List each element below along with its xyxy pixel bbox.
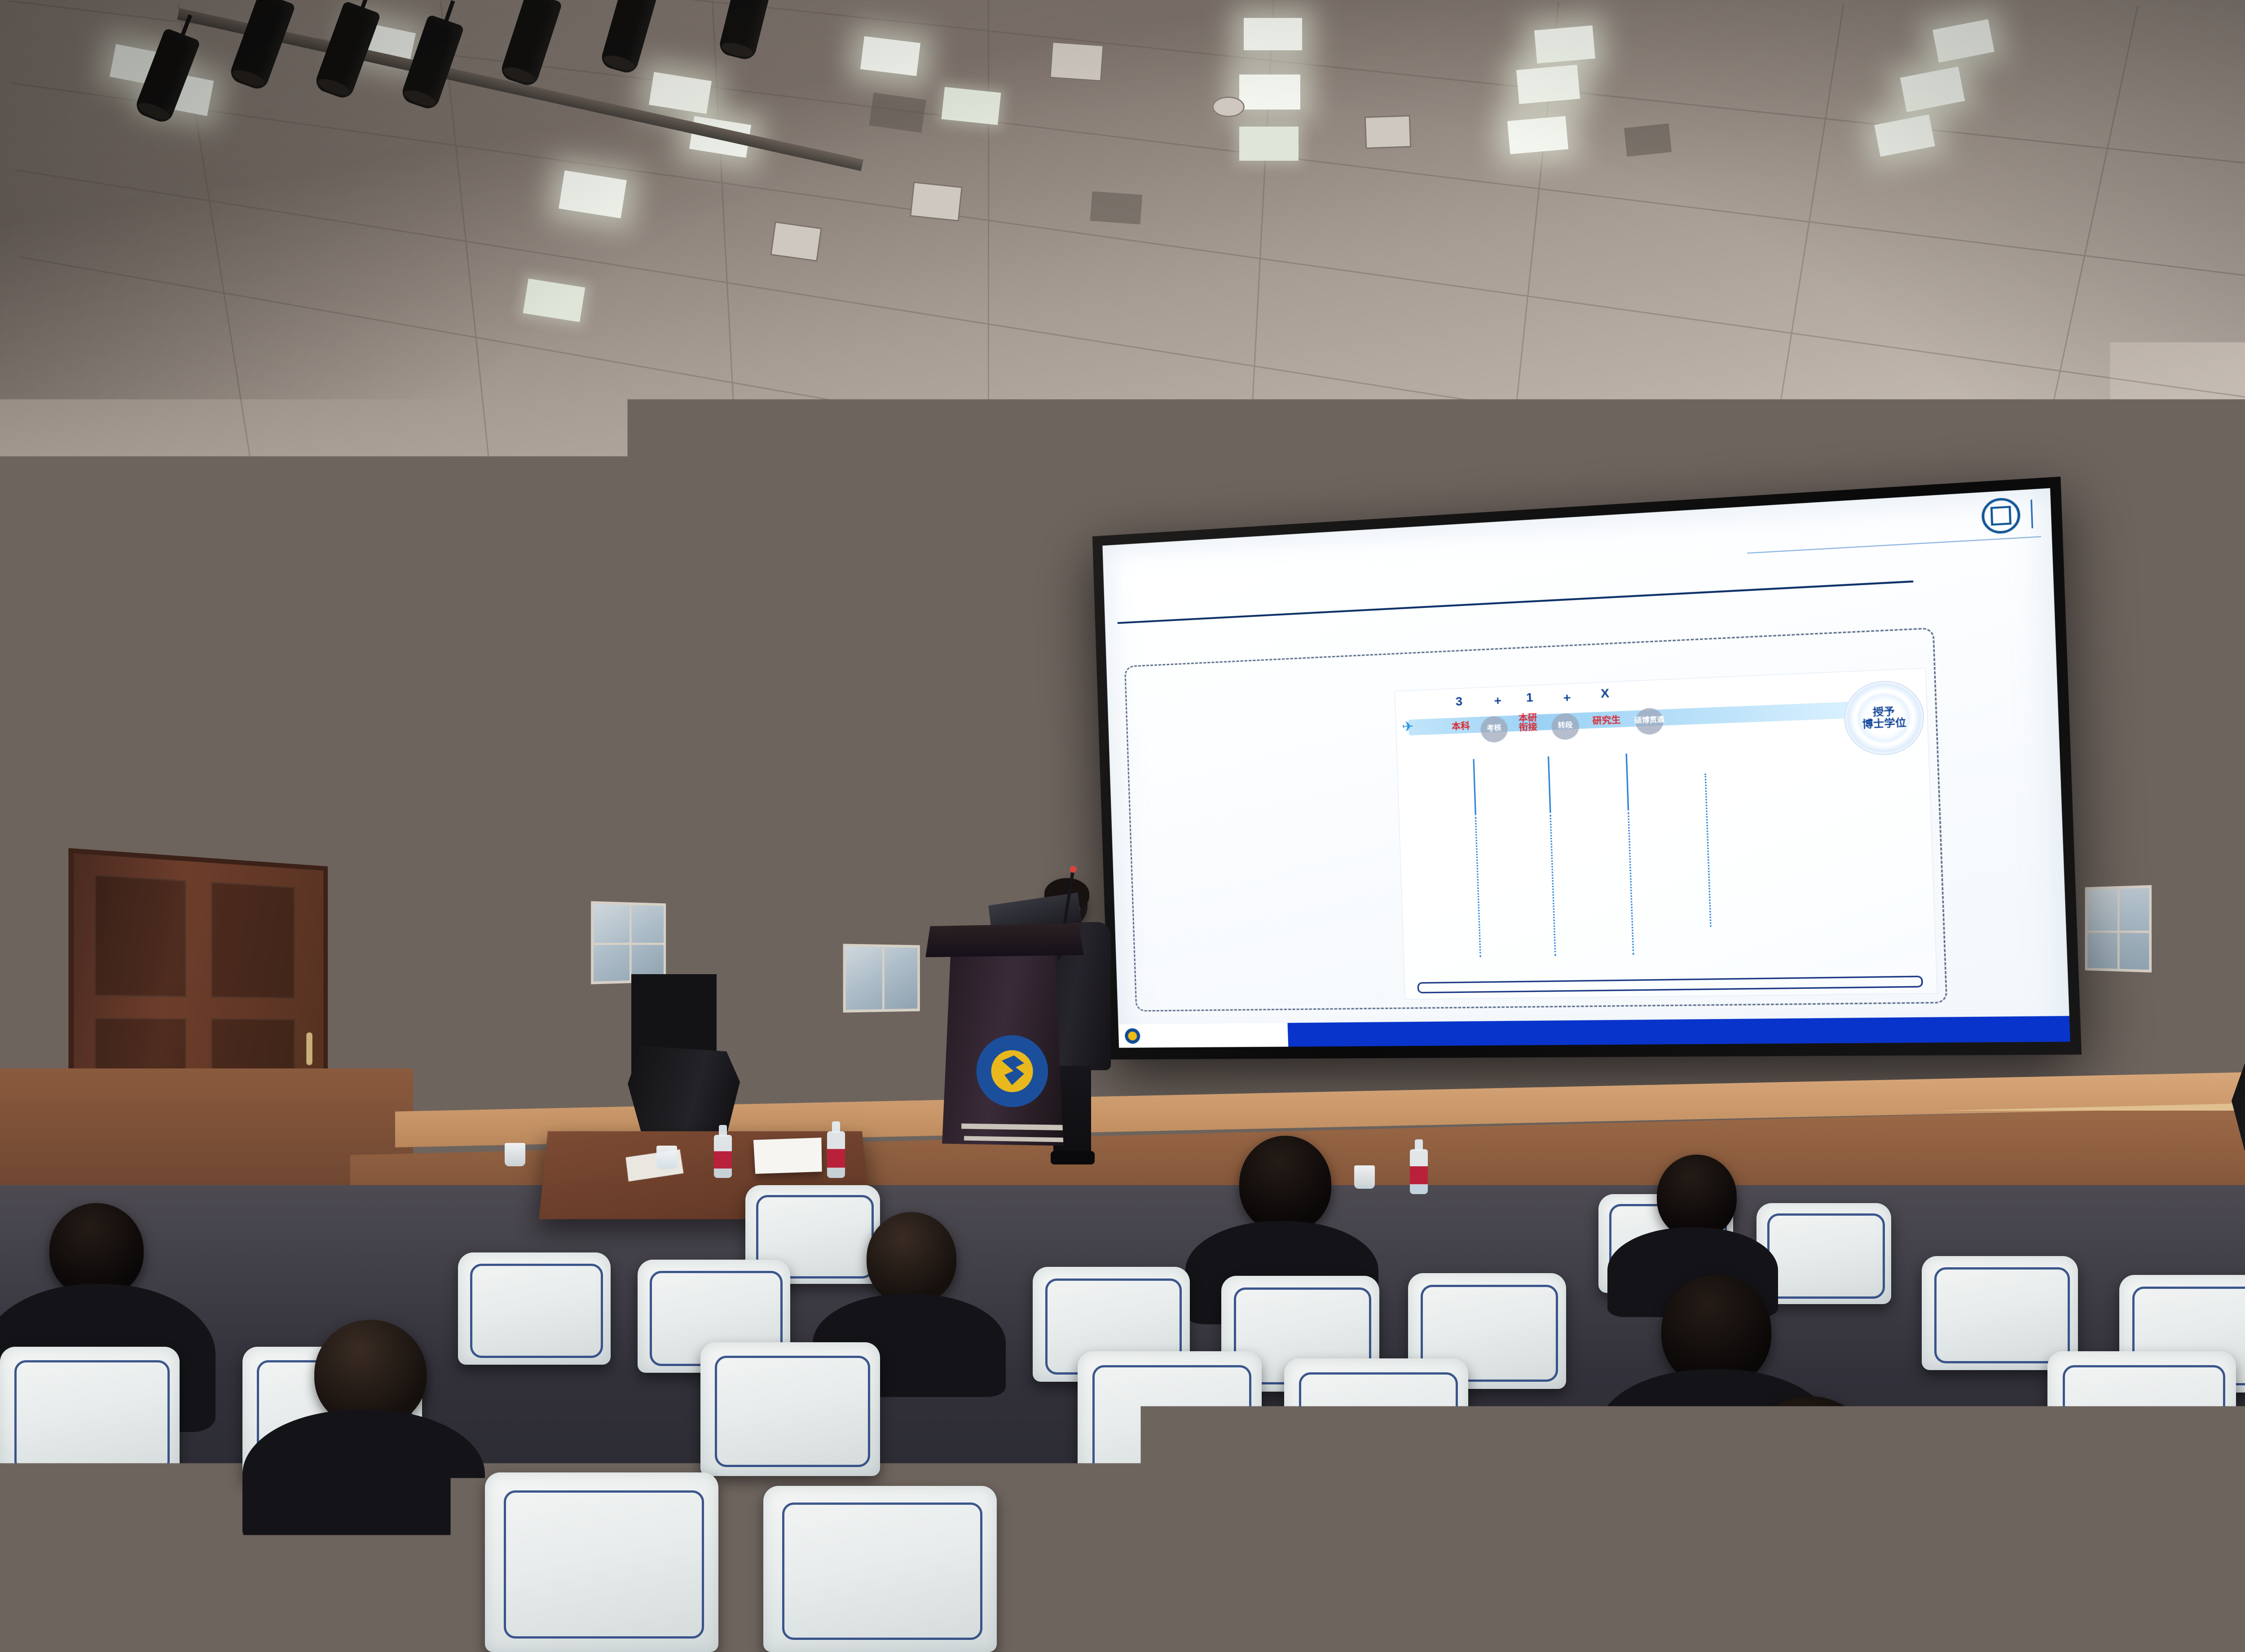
airplane-icon: ✈: [1402, 719, 1414, 735]
lecture-hall-photo: ✈ 3 + 1 + X 本科 考核 本研衔接 转段 研究生 硕博贯通 授予博士学…: [0, 0, 2245, 1652]
ceiling-vent: [1090, 191, 1142, 224]
audience-head: [1657, 1155, 1737, 1238]
window: [591, 901, 666, 984]
audience-head: [867, 1212, 956, 1305]
slide-footer-logo: [1118, 1023, 1288, 1048]
logo-underline: [1747, 536, 2041, 554]
university-crest-icon: [977, 1035, 1048, 1107]
promote-vertical-label: [1900, 751, 1921, 751]
projection-screen[interactable]: ✈ 3 + 1 + X 本科 考核 本研衔接 转段 研究生 硕博贯通 授予博士学…: [1092, 477, 2082, 1060]
slide-side-tabs: [1942, 562, 2060, 1006]
ceiling-vent: [1624, 123, 1672, 157]
auditorium-seat[interactable]: [58, 1508, 292, 1652]
auditorium-seat[interactable]: [700, 1342, 880, 1476]
water-bottle: [714, 1135, 732, 1178]
ceiling-light-panel: [1516, 65, 1580, 104]
ceiling-light-panel: [1507, 116, 1568, 154]
auditorium-seat[interactable]: [1114, 1481, 1356, 1652]
auditorium-seat[interactable]: [0, 1347, 180, 1481]
ceiling-diffuser: [770, 221, 822, 262]
ceiling-light-panel: [1239, 127, 1299, 161]
column-separator: [1473, 759, 1476, 815]
formula-plus-2: +: [1563, 690, 1571, 705]
running-man-icon: [283, 837, 296, 852]
name-placard: [753, 1138, 822, 1174]
exit-sign: [244, 829, 335, 860]
footer-seal-icon: [1125, 1028, 1140, 1044]
ceiling-light-panel: [1534, 25, 1595, 63]
ceiling-light-panel: [1239, 75, 1300, 110]
auditorium-seat[interactable]: [485, 1472, 718, 1652]
ceiling-light-panel: [860, 36, 920, 76]
ceiling-diffuser: [1049, 41, 1104, 82]
training-pathway-diagram: ✈ 3 + 1 + X 本科 考核 本研衔接 转段 研究生 硕博贯通 授予博士学…: [1395, 668, 1938, 1000]
column-separator: [1548, 756, 1551, 813]
ceiling-light-panel: [1244, 18, 1302, 50]
formula-3: 3: [1455, 694, 1463, 709]
auditorium-seat[interactable]: [1078, 1351, 1262, 1489]
window: [843, 944, 920, 1012]
column-dash-separator: [1628, 813, 1634, 955]
pathway-label-zhuanduan: 转段: [1551, 721, 1579, 730]
ceiling-light-panel: [942, 87, 1001, 125]
water-bottle: [1410, 1149, 1428, 1194]
auditorium-seat[interactable]: [1284, 1358, 1468, 1496]
logo-divider: [2030, 500, 2033, 528]
pathway-label-kaohe: 考核: [1480, 724, 1508, 733]
slide-heading-rule: [1118, 580, 1913, 624]
column-dash-separator: [1549, 815, 1556, 956]
door-handle[interactable]: [306, 1032, 312, 1065]
auditorium-seat[interactable]: [1985, 1490, 2218, 1652]
window: [2085, 885, 2152, 973]
paper-cup: [656, 1146, 677, 1169]
pathway-label-benyan: 本研衔接: [1513, 713, 1543, 733]
pathway-label-yanjiusheng: 研究生: [1586, 716, 1628, 727]
degree-award-text: 授予博士学位: [1862, 706, 1906, 730]
audience-head: [49, 1203, 144, 1297]
auditorium-seat[interactable]: [763, 1486, 997, 1652]
presentation-slide: ✈ 3 + 1 + X 本科 考核 本研衔接 转段 研究生 硕博贯通 授予博士学…: [1102, 488, 2070, 1048]
auditorium-seat[interactable]: [2047, 1351, 2236, 1491]
pathway-label-benke: 本科: [1447, 722, 1475, 732]
auditorium-seat[interactable]: [1383, 1490, 1616, 1652]
podium: [931, 923, 1078, 1151]
column-dash-separator: [1475, 817, 1481, 957]
podium-label: [925, 933, 1083, 936]
audience-shoulders: [1661, 1499, 1958, 1652]
formula-plus-1: +: [1494, 694, 1501, 708]
degree-award-badge: 授予博士学位: [1843, 679, 1925, 756]
column-dash-separator: [1704, 773, 1711, 927]
column-separator: [1626, 754, 1629, 811]
formula-1: 1: [1526, 690, 1533, 705]
water-bottle: [827, 1131, 845, 1178]
ceiling-diffuser: [1365, 115, 1411, 149]
safety-poster: [512, 954, 564, 1038]
paper-cup: [1354, 1165, 1375, 1189]
paper-cup: [505, 1143, 525, 1166]
stage-monitor-speaker: [628, 1046, 740, 1136]
auditorium-seat[interactable]: [458, 1252, 611, 1365]
university-seal-icon: [1981, 497, 2021, 535]
formula-x: X: [1600, 686, 1609, 701]
audience-head: [1239, 1136, 1331, 1232]
ceiling-diffuser: [910, 181, 963, 221]
slide-subheading: [1105, 585, 2054, 633]
diagram-bottom-bar: [1417, 975, 1923, 993]
slide-header-logo: [1981, 496, 2038, 534]
